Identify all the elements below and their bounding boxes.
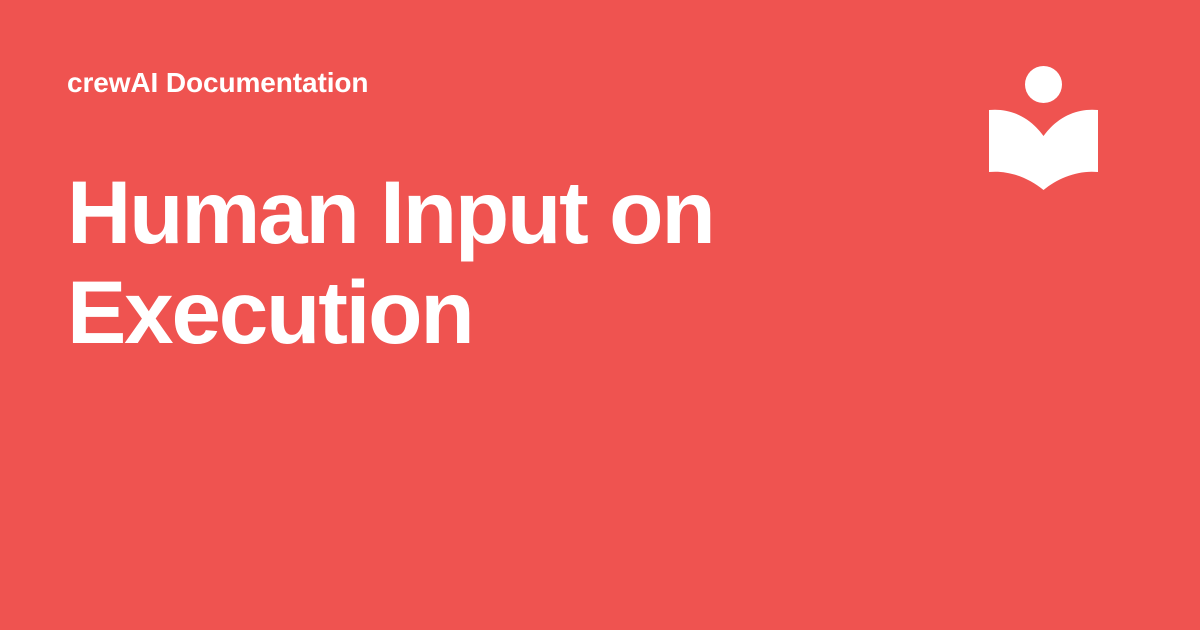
open-book-reader-icon	[985, 62, 1103, 194]
open-book-shape	[989, 110, 1098, 190]
card-content: crewAI Documentation Human Input on Exec…	[67, 66, 827, 362]
page-title: Human Input on Execution	[67, 162, 767, 362]
og-card: crewAI Documentation Human Input on Exec…	[0, 0, 1200, 630]
site-eyebrow-label: crewAI Documentation	[67, 66, 827, 100]
reader-head-circle	[1025, 66, 1062, 103]
brand-logo	[985, 62, 1103, 194]
